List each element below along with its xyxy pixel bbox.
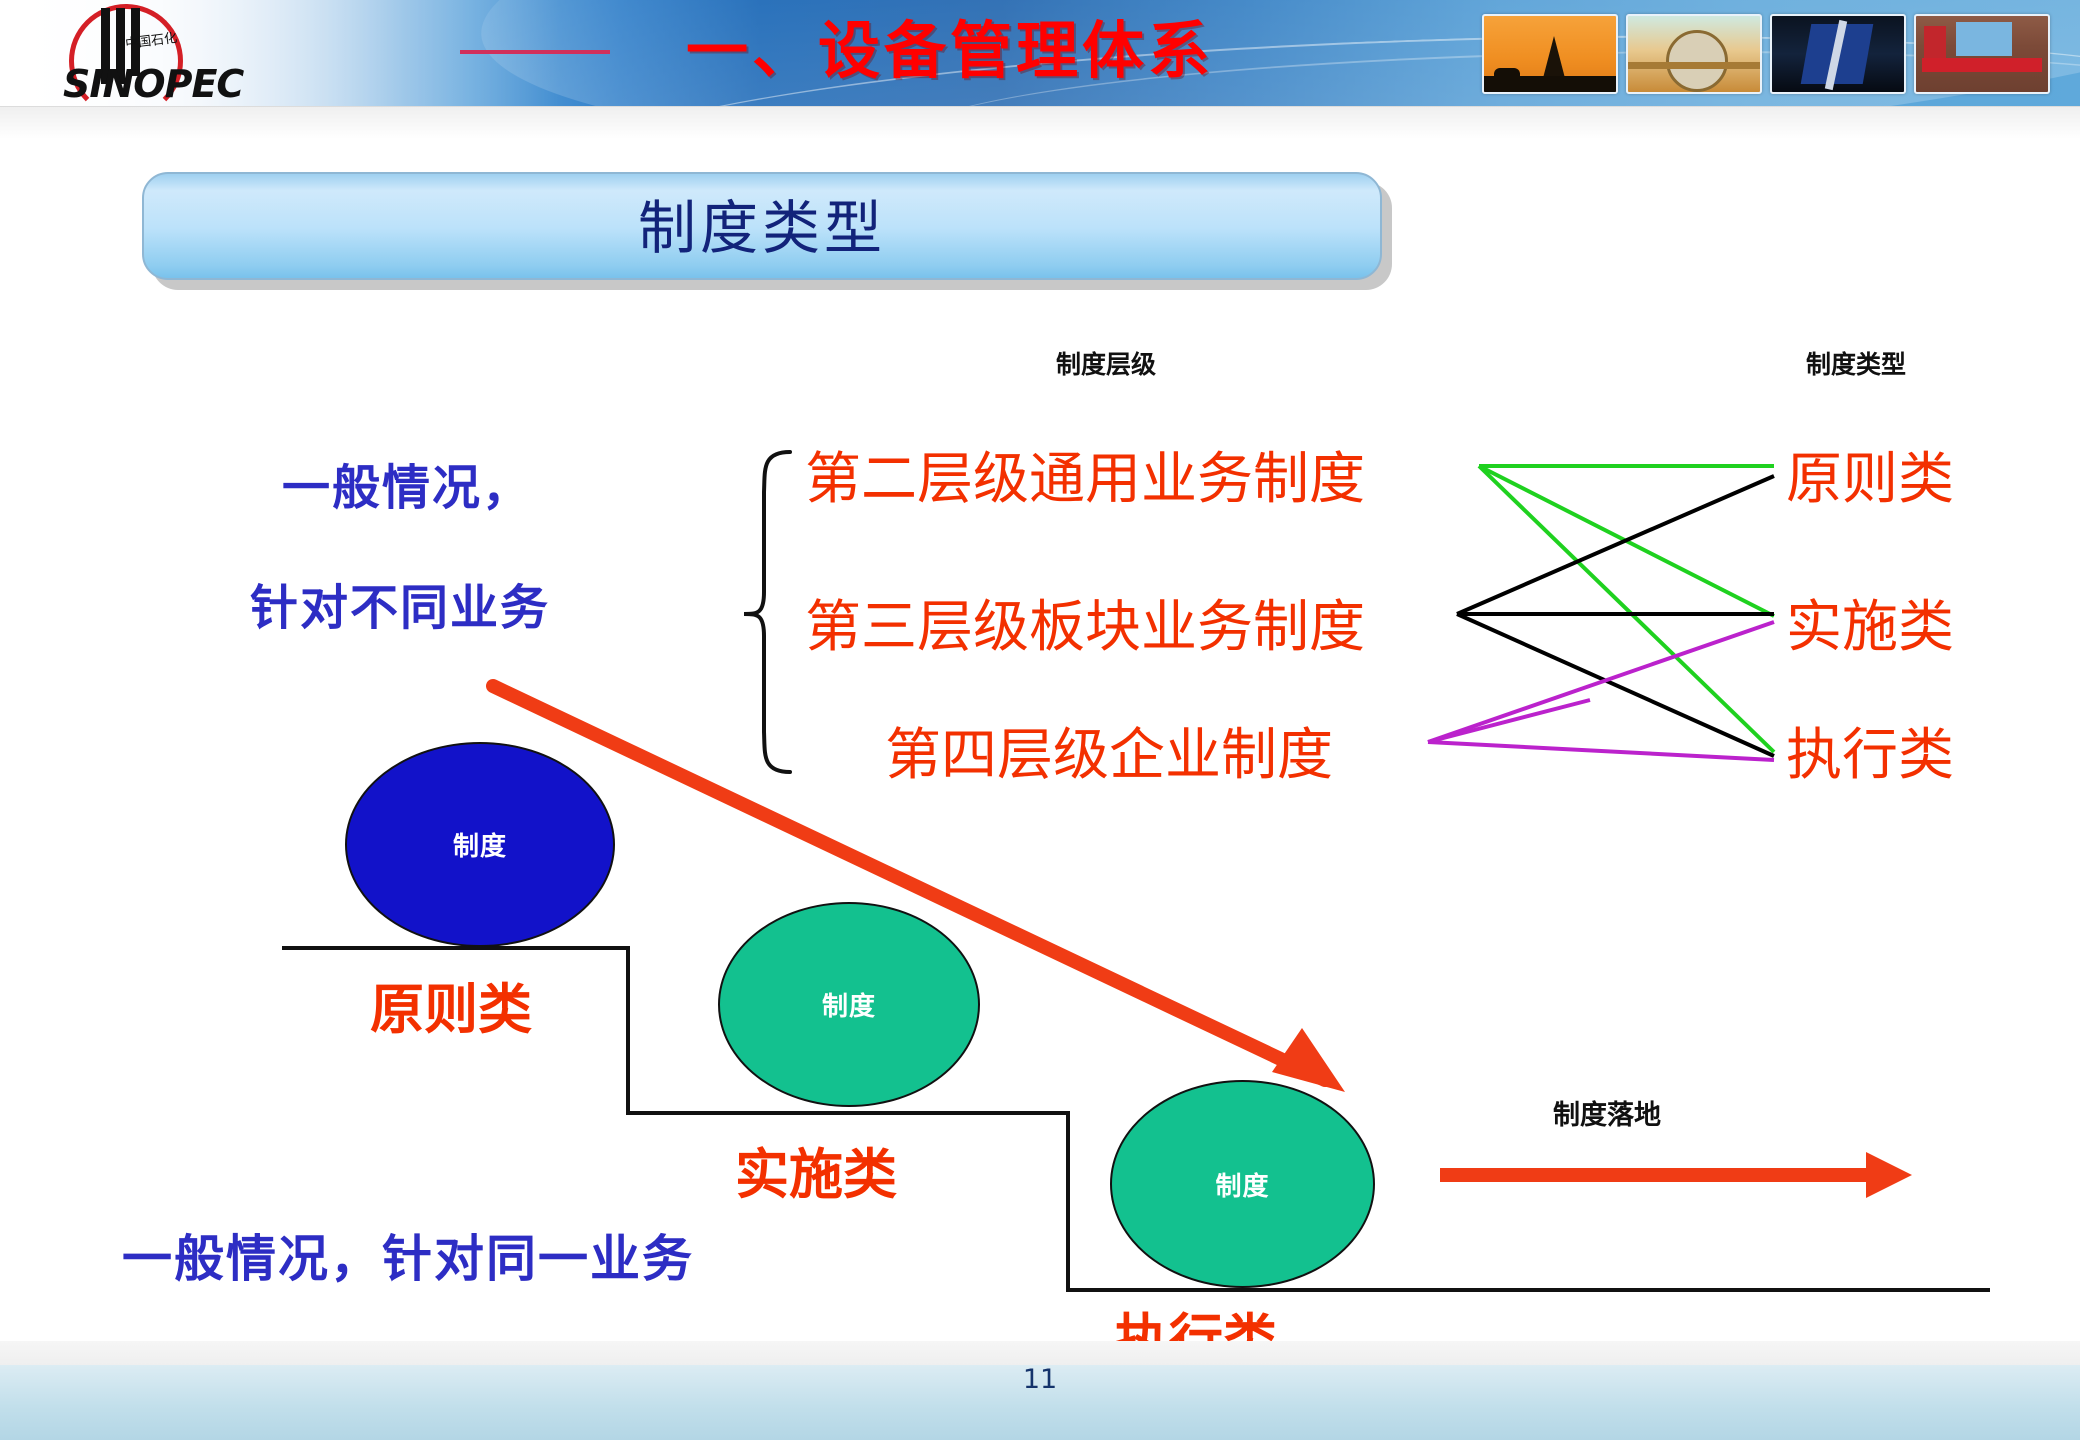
level-label-3: 第三层级板块业务制度: [805, 582, 1365, 663]
descending-red-arrow-head: [1272, 1028, 1345, 1092]
stair-ellipse-execute-text: 制度: [1215, 1166, 1269, 1203]
diagram-stage: 制度层级 制度类型 一般情况， 针对不同业务 一般情况，针对同一业务 第二层级通…: [0, 0, 2080, 1440]
stair-ellipse-principle-text: 制度: [453, 826, 507, 863]
stair-ellipse-implement: 制度: [718, 902, 980, 1107]
landing-arrow-head: [1866, 1152, 1912, 1198]
link-level4-to-execute: [1428, 742, 1774, 760]
link-level4-to-principle: [1428, 700, 1590, 742]
column-header-level: 制度层级: [1056, 345, 1156, 381]
type-label-implement: 实施类: [1786, 582, 1954, 663]
bottom-note: 一般情况，针对同一业务: [122, 1219, 694, 1291]
level-label-4: 第四层级企业制度: [885, 710, 1333, 791]
level-label-2: 第二层级通用业务制度: [805, 434, 1365, 515]
link-level4-to-implement: [1428, 622, 1774, 742]
page-number: 11: [0, 1364, 2080, 1395]
level-group-brace: [744, 452, 790, 772]
link-level3-to-execute: [1457, 614, 1774, 756]
type-label-execute: 执行类: [1786, 710, 1954, 791]
stair-label-principle: 原则类: [370, 965, 532, 1044]
column-header-type: 制度类型: [1806, 345, 1906, 381]
stair-label-implement: 实施类: [735, 1130, 897, 1209]
landing-arrow-label: 制度落地: [1553, 1093, 1661, 1132]
stair-ellipse-principle: 制度: [345, 742, 615, 947]
footer-gray-strip: [0, 1341, 2080, 1365]
type-label-principle: 原则类: [1786, 434, 1954, 515]
stair-ellipse-implement-text: 制度: [822, 986, 876, 1023]
stair-ellipse-execute: 制度: [1110, 1080, 1375, 1288]
left-note-line2: 针对不同业务: [250, 568, 550, 638]
left-note-line1: 一般情况，: [282, 448, 532, 518]
